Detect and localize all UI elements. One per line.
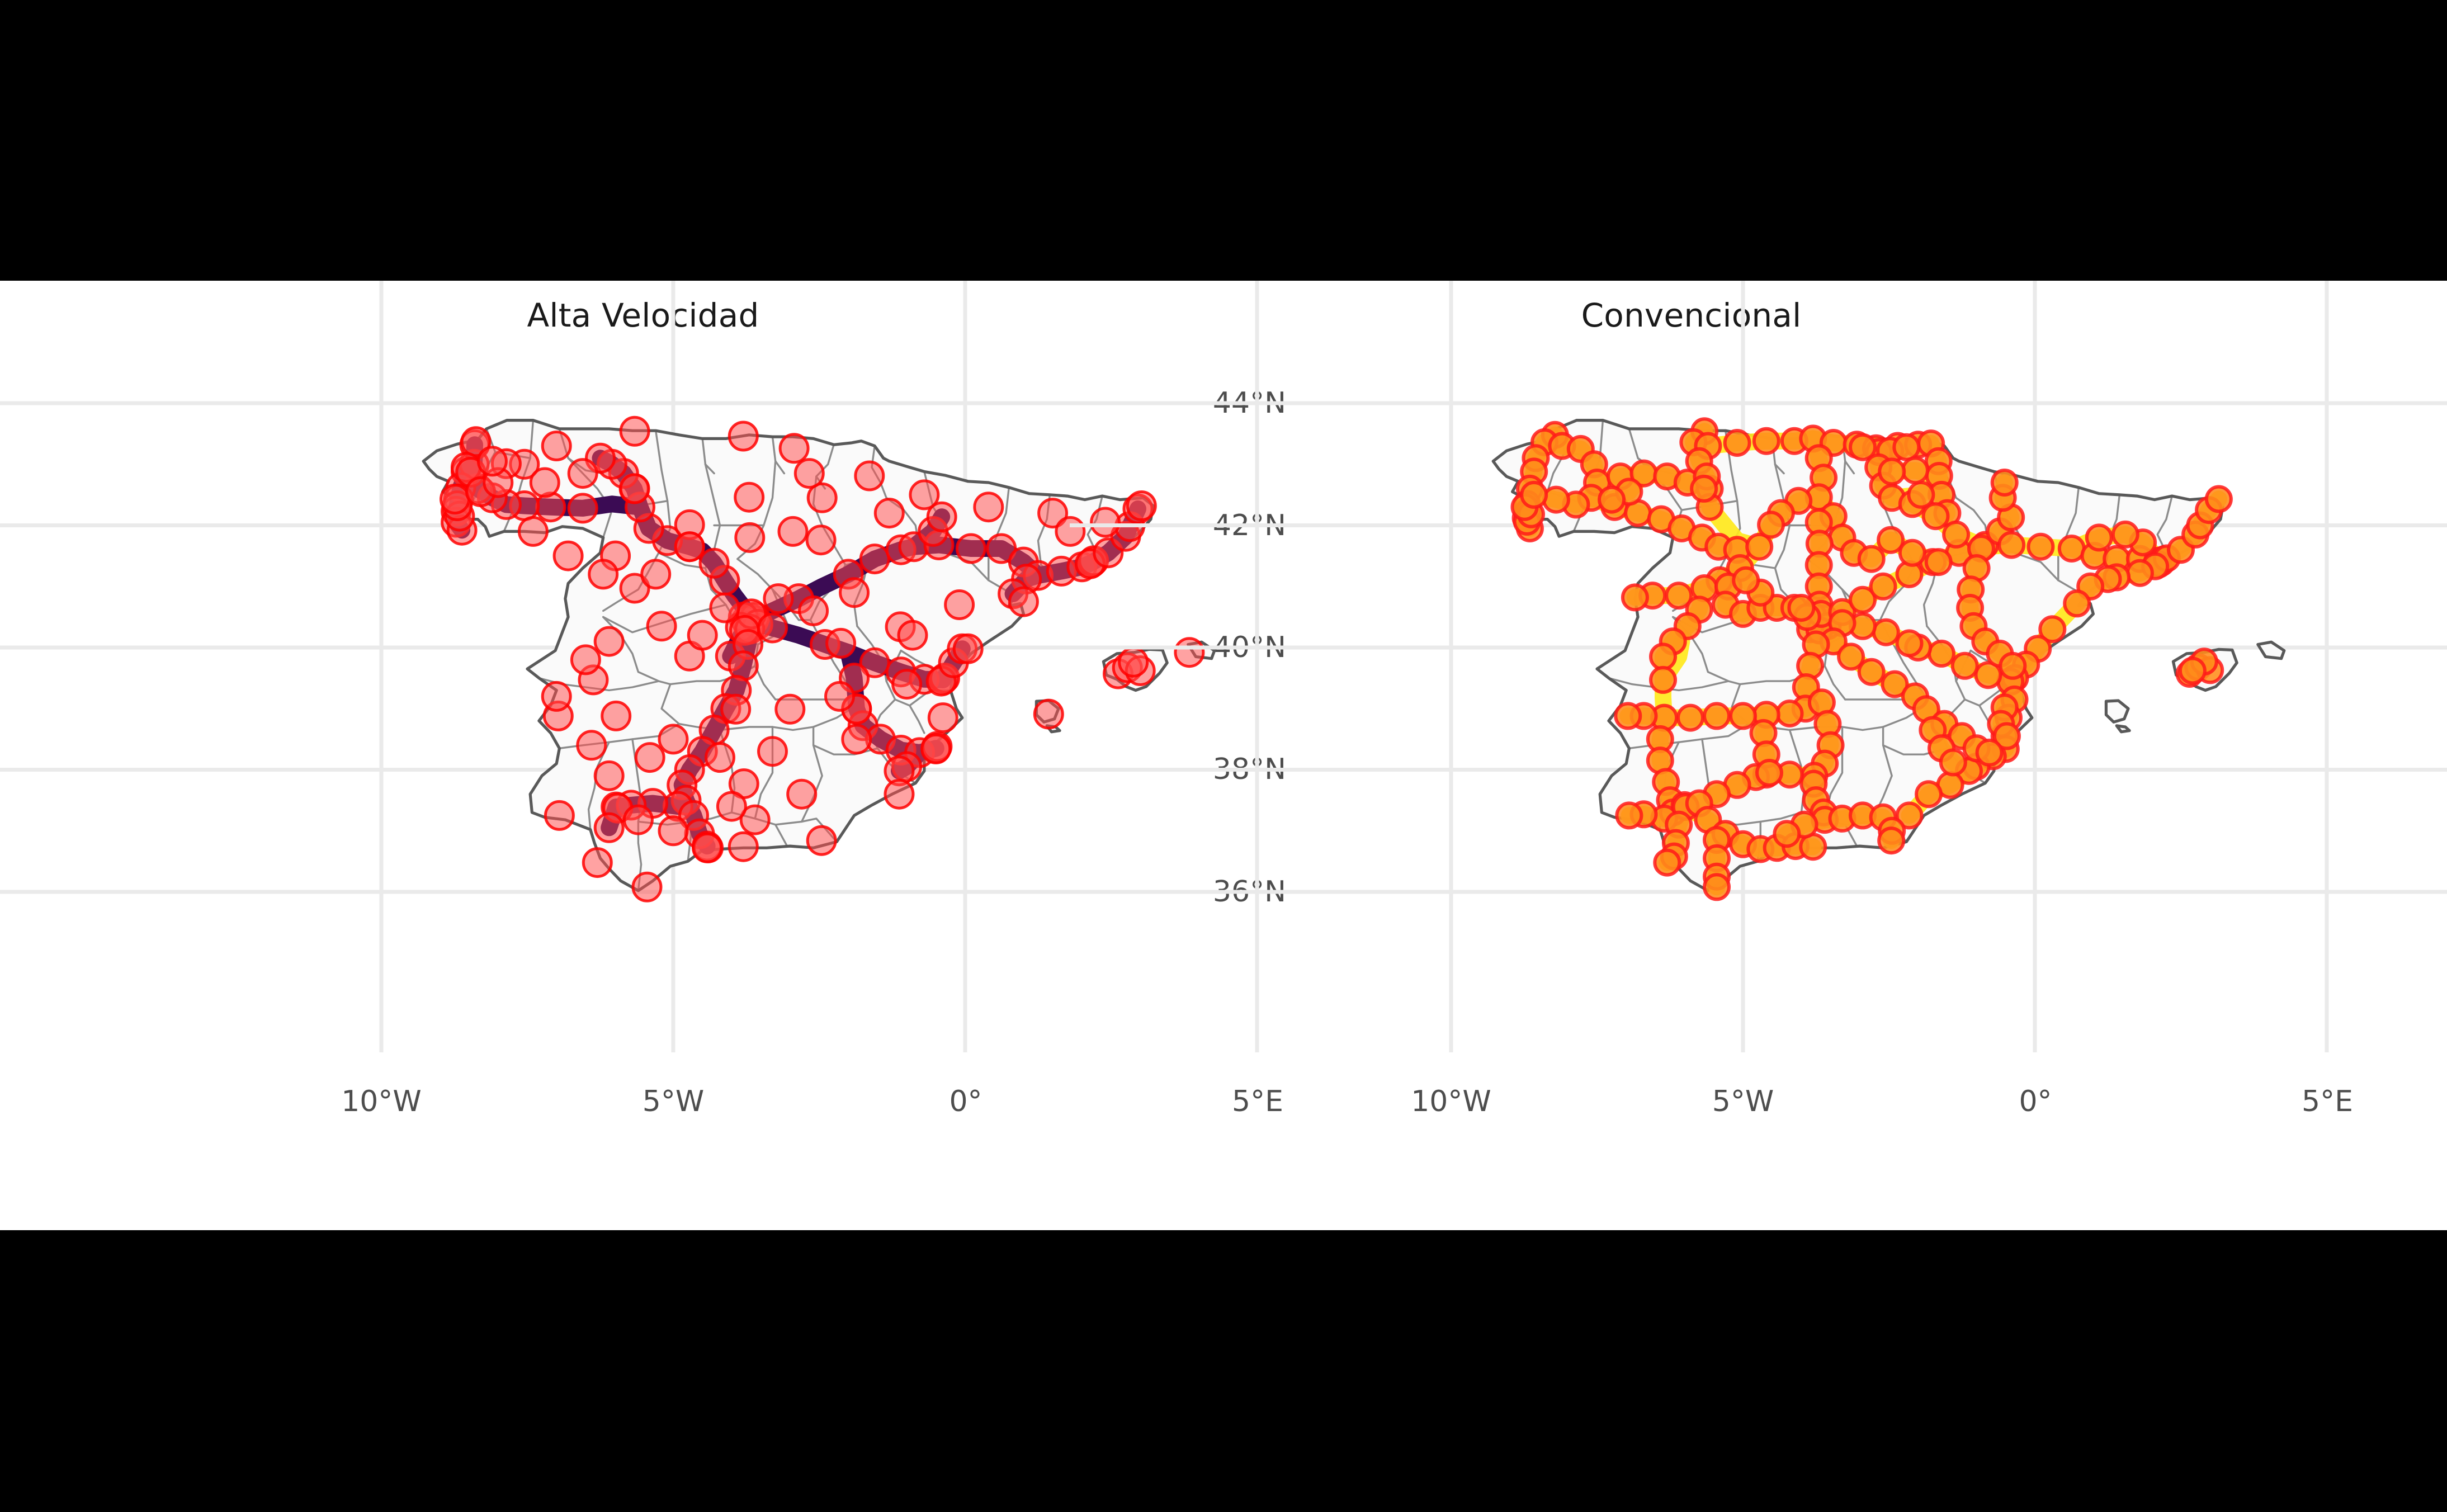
station-marker[interactable]	[826, 682, 854, 710]
station-marker[interactable]	[1953, 654, 1977, 678]
station-marker[interactable]	[1789, 596, 1813, 620]
station-marker[interactable]	[1944, 522, 1968, 547]
station-marker[interactable]	[885, 780, 913, 808]
map-convencional	[1070, 281, 2447, 1230]
station-marker[interactable]	[735, 483, 763, 511]
station-marker[interactable]	[1757, 760, 1782, 785]
station-marker[interactable]	[542, 432, 570, 460]
station-marker[interactable]	[1599, 488, 1624, 512]
station-marker[interactable]	[478, 447, 506, 475]
station-marker[interactable]	[1926, 550, 1951, 574]
station-marker[interactable]	[1999, 533, 2024, 557]
station-marker[interactable]	[1894, 435, 1919, 460]
station-marker[interactable]	[1929, 641, 1954, 666]
station-marker[interactable]	[807, 526, 835, 554]
station-marker[interactable]	[1900, 541, 1925, 565]
balearic-island	[2106, 701, 2128, 722]
station-marker[interactable]	[1778, 701, 1802, 726]
station-marker[interactable]	[893, 670, 921, 698]
station-marker[interactable]	[1034, 700, 1062, 728]
station-marker[interactable]	[706, 744, 734, 772]
station-marker[interactable]	[1009, 588, 1037, 616]
station-marker[interactable]	[542, 682, 570, 710]
station-marker[interactable]	[1617, 803, 1641, 828]
station-marker[interactable]	[729, 833, 757, 861]
station-marker[interactable]	[569, 460, 597, 488]
station-marker[interactable]	[636, 744, 664, 772]
station-marker[interactable]	[788, 780, 816, 808]
station-marker[interactable]	[1879, 828, 1903, 853]
station-marker[interactable]	[1651, 668, 1675, 692]
station-marker[interactable]	[1759, 512, 1783, 537]
station-marker[interactable]	[827, 629, 855, 657]
figure-canvas: Alta Velocidad 44°N 42°N 40°N 38°N 36°N …	[0, 0, 2447, 1512]
station-marker[interactable]	[922, 735, 950, 763]
station-marker[interactable]	[595, 627, 623, 655]
balearic-island	[2258, 642, 2284, 659]
station-marker[interactable]	[2180, 659, 2205, 683]
station-marker[interactable]	[776, 695, 804, 723]
station-marker[interactable]	[2128, 561, 2152, 585]
station-marker[interactable]	[780, 434, 808, 462]
station-marker[interactable]	[1871, 574, 1896, 599]
station-marker[interactable]	[2028, 535, 2053, 559]
station-marker[interactable]	[1992, 470, 2017, 495]
station-marker[interactable]	[700, 549, 728, 577]
station-marker[interactable]	[621, 417, 649, 445]
station-marker[interactable]	[2059, 536, 2084, 561]
station-marker[interactable]	[954, 635, 982, 663]
station-marker[interactable]	[807, 826, 835, 854]
station-marker[interactable]	[571, 646, 599, 674]
station-marker[interactable]	[840, 579, 868, 607]
station-marker[interactable]	[675, 533, 703, 561]
station-marker[interactable]	[688, 621, 716, 649]
station-marker[interactable]	[1623, 585, 1647, 609]
station-marker[interactable]	[2065, 591, 2089, 616]
station-marker[interactable]	[595, 762, 623, 790]
station-marker[interactable]	[729, 422, 757, 450]
station-marker[interactable]	[659, 817, 687, 845]
station-marker[interactable]	[1859, 660, 1884, 684]
station-marker[interactable]	[1754, 429, 1779, 453]
station-marker[interactable]	[759, 738, 787, 766]
station-marker[interactable]	[1909, 483, 1933, 507]
station-marker[interactable]	[1725, 431, 1750, 455]
station-marker[interactable]	[2087, 525, 2111, 550]
station-marker[interactable]	[899, 621, 927, 649]
station-marker[interactable]	[1977, 740, 2002, 765]
station-marker[interactable]	[621, 475, 649, 503]
station-marker[interactable]	[1897, 631, 1922, 655]
station-marker[interactable]	[642, 560, 670, 588]
station-marker[interactable]	[545, 801, 573, 829]
station-marker[interactable]	[659, 725, 687, 753]
station-marker[interactable]	[929, 704, 957, 732]
station-marker[interactable]	[795, 460, 823, 488]
station-marker[interactable]	[519, 517, 547, 545]
station-marker[interactable]	[717, 792, 745, 820]
station-marker[interactable]	[2113, 522, 2138, 547]
station-marker[interactable]	[2000, 654, 2025, 678]
station-marker[interactable]	[711, 594, 739, 622]
station-marker[interactable]	[800, 597, 828, 625]
station-marker[interactable]	[602, 702, 630, 730]
station-marker[interactable]	[648, 612, 675, 640]
station-marker[interactable]	[595, 814, 623, 842]
station-marker[interactable]	[861, 545, 889, 573]
station-marker[interactable]	[1733, 568, 1758, 593]
station-marker[interactable]	[856, 462, 884, 490]
station-marker[interactable]	[1615, 703, 1640, 728]
station-marker[interactable]	[1704, 703, 1729, 728]
station-marker[interactable]	[1731, 703, 1755, 728]
station-marker[interactable]	[1544, 488, 1569, 512]
station-marker[interactable]	[1879, 459, 1904, 484]
station-marker[interactable]	[736, 523, 764, 551]
station-marker[interactable]	[1941, 750, 1966, 774]
station-marker[interactable]	[1655, 850, 1679, 875]
station-marker[interactable]	[1874, 620, 1898, 645]
station-marker[interactable]	[1678, 706, 1703, 730]
balearic-island	[2117, 726, 2129, 732]
station-marker[interactable]	[975, 493, 1003, 521]
station-marker[interactable]	[569, 494, 597, 522]
station-marker[interactable]	[1916, 782, 1941, 806]
station-marker[interactable]	[779, 517, 807, 545]
station-marker[interactable]	[589, 560, 617, 588]
station-marker[interactable]	[693, 834, 721, 862]
station-marker[interactable]	[722, 695, 750, 723]
station-marker[interactable]	[531, 469, 559, 497]
station-marker[interactable]	[759, 614, 787, 642]
station-marker[interactable]	[624, 806, 652, 834]
station-marker[interactable]	[441, 485, 469, 513]
station-marker[interactable]	[843, 725, 871, 753]
station-marker[interactable]	[957, 535, 985, 563]
station-marker[interactable]	[1774, 821, 1799, 846]
panel-convencional: Convencional 10°W 5°W 0° 5°E	[1070, 281, 2447, 1230]
station-marker[interactable]	[764, 585, 792, 613]
station-marker[interactable]	[633, 873, 661, 901]
plot-sheet: Alta Velocidad 44°N 42°N 40°N 38°N 36°N …	[0, 281, 2447, 1230]
station-marker[interactable]	[1651, 644, 1675, 669]
station-marker[interactable]	[583, 849, 611, 877]
station-marker[interactable]	[1522, 483, 1546, 507]
station-marker[interactable]	[1859, 547, 1884, 571]
station-marker[interactable]	[875, 499, 903, 527]
station-marker[interactable]	[1692, 476, 1716, 501]
station-marker[interactable]	[578, 731, 606, 759]
station-marker[interactable]	[554, 542, 582, 570]
station-marker[interactable]	[2207, 487, 2231, 512]
station-marker[interactable]	[910, 481, 938, 509]
station-marker[interactable]	[946, 591, 974, 619]
station-marker[interactable]	[1903, 458, 1928, 483]
station-marker[interactable]	[1704, 875, 1729, 899]
station-marker[interactable]	[1924, 504, 1948, 528]
